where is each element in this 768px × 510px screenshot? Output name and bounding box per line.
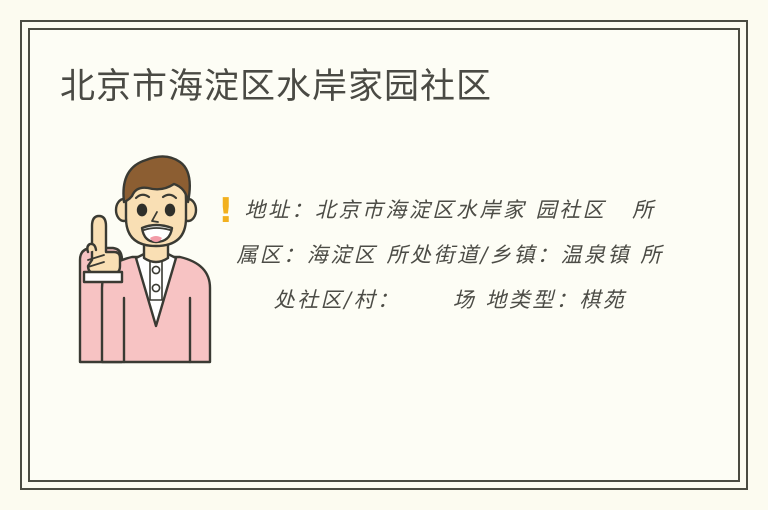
page-title: 北京市海淀区水岸家园社区: [60, 58, 492, 109]
info-line-community-value: 场: [453, 288, 477, 312]
community-info-text: 地址：北京市海淀区水岸家 园社区所属区：海淀区 所处街道/乡镇：温泉镇 所处社区…: [235, 188, 665, 323]
info-card: 北京市海淀区水岸家园社区: [20, 20, 748, 490]
info-card-inner-frame: 北京市海淀区水岸家园社区: [28, 28, 740, 482]
info-line-street: 所处街道/乡镇：温泉镇: [386, 243, 631, 267]
exclamation-mark-icon: !: [218, 194, 234, 228]
man-pointing-up-illustration: !: [62, 148, 222, 373]
info-line-address: 地址：北京市海淀区水岸家: [244, 198, 526, 222]
info-line-land-type: 地类型：棋苑: [485, 288, 626, 312]
info-line-address-cont: 园社区: [536, 198, 607, 222]
